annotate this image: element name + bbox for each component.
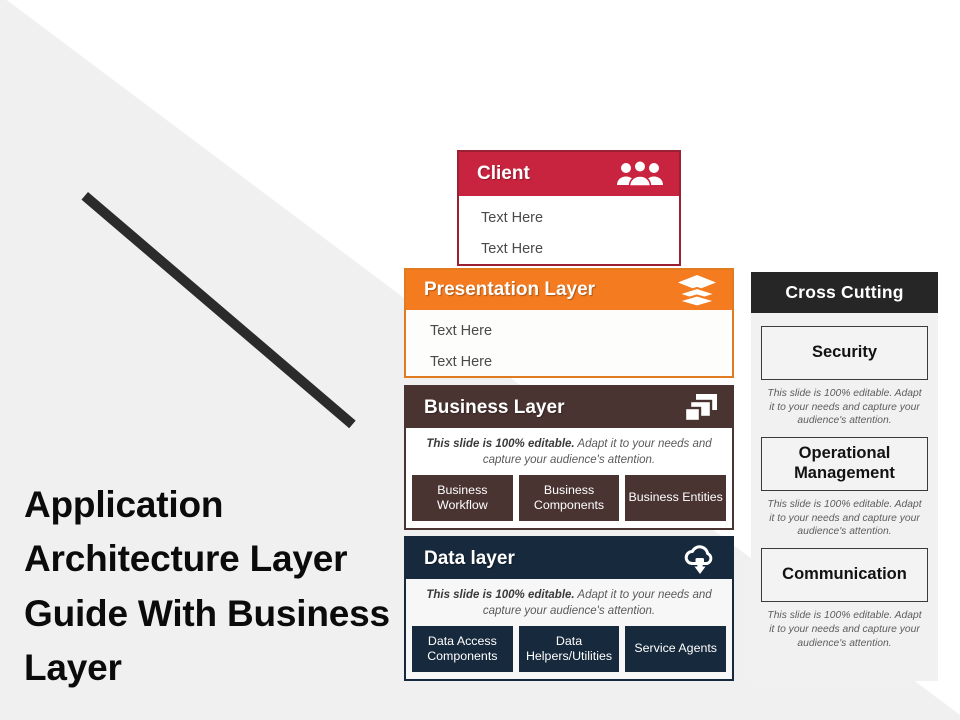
cross-cutting-title: Cross Cutting <box>785 282 903 303</box>
overlapping-windows-icon <box>684 393 718 423</box>
cloud-download-icon <box>682 543 718 575</box>
cross-cutting-note: This slide is 100% editable. Adapt it to… <box>761 491 928 548</box>
client-text-row: Text Here <box>481 234 679 265</box>
layer-card-data[interactable]: Data layer This slide is 100% editable. … <box>404 536 734 681</box>
business-body: This slide is 100% editable. Adapt it to… <box>406 428 732 528</box>
client-body: Text Here Text Here <box>459 196 679 264</box>
data-chip[interactable]: Service Agents <box>625 626 726 672</box>
layer-card-presentation[interactable]: Presentation Layer Text Here Text Here <box>404 268 734 378</box>
cross-cutting-header: Cross Cutting <box>751 272 938 313</box>
client-text-row: Text Here <box>481 203 679 234</box>
layer-card-business[interactable]: Business Layer This slide is 100% editab… <box>404 385 734 530</box>
presentation-header: Presentation Layer <box>406 270 732 310</box>
client-title: Client <box>477 163 530 185</box>
cross-cutting-panel: Cross Cutting Security This slide is 100… <box>751 272 938 681</box>
presentation-body: Text Here Text Here <box>406 310 732 376</box>
business-title: Business Layer <box>424 397 564 419</box>
layer-card-client[interactable]: Client Text Here Text Here <box>457 150 681 266</box>
business-header: Business Layer <box>406 387 732 428</box>
presentation-text-row: Text Here <box>430 316 732 347</box>
business-note-bold: This slide is 100% editable. <box>426 438 574 450</box>
data-chip-row: Data Access Components Data Helpers/Util… <box>406 626 732 678</box>
background-diagonal-bar <box>82 192 356 428</box>
client-header: Client <box>459 152 679 196</box>
slide-canvas: Application Architecture Layer Guide Wit… <box>0 0 960 720</box>
cross-cutting-item-operational-management[interactable]: Operational Management <box>761 437 928 491</box>
cross-cutting-body: Security This slide is 100% editable. Ad… <box>751 313 938 667</box>
data-editable-note: This slide is 100% editable. Adapt it to… <box>406 579 732 626</box>
data-title: Data layer <box>424 548 515 570</box>
users-group-icon <box>615 161 665 187</box>
cross-cutting-item-security[interactable]: Security <box>761 326 928 380</box>
business-chip-row: Business Workflow Business Components Bu… <box>406 475 732 527</box>
presentation-text-row: Text Here <box>430 347 732 378</box>
data-note-bold: This slide is 100% editable. <box>426 589 574 601</box>
cross-cutting-note: This slide is 100% editable. Adapt it to… <box>761 380 928 437</box>
data-chip[interactable]: Data Helpers/Utilities <box>519 626 620 672</box>
data-header: Data layer <box>406 538 732 579</box>
business-chip[interactable]: Business Workflow <box>412 475 513 521</box>
cross-cutting-item-communication[interactable]: Communication <box>761 548 928 602</box>
presentation-title: Presentation Layer <box>424 279 595 301</box>
page-title: Application Architecture Layer Guide Wit… <box>24 478 396 696</box>
business-chip[interactable]: Business Components <box>519 475 620 521</box>
data-chip[interactable]: Data Access Components <box>412 626 513 672</box>
stacked-layers-icon <box>676 274 718 306</box>
cross-cutting-note: This slide is 100% editable. Adapt it to… <box>761 602 928 659</box>
data-body: This slide is 100% editable. Adapt it to… <box>406 579 732 679</box>
business-editable-note: This slide is 100% editable. Adapt it to… <box>406 428 732 475</box>
business-chip[interactable]: Business Entities <box>625 475 726 521</box>
